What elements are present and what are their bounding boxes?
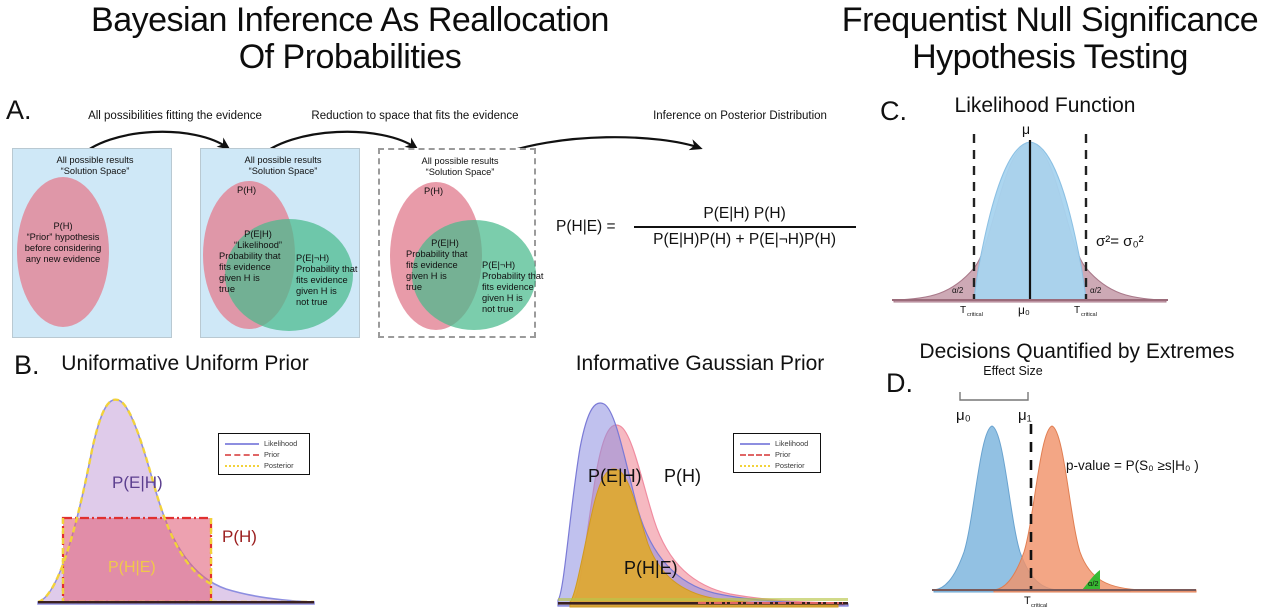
box2-nh-line3: fits evidence <box>296 275 362 286</box>
box3-header-line2: “Solution Space” <box>390 167 530 178</box>
venn-box-posterior: All possible results “Solution Space” P(… <box>378 148 536 338</box>
box1-prior-line3: before considering <box>15 243 111 254</box>
box3-like-line3: fits evidence <box>406 260 484 271</box>
svg-text:μ: μ <box>1022 121 1030 137</box>
panel-d-effect-size-label: Effect Size <box>958 364 1068 378</box>
panel-b-left-title: Uniformative Uniform Prior <box>50 352 320 376</box>
box2-like-line1: P(E|H) <box>219 229 297 240</box>
box2-like-line5: given H is <box>219 273 297 284</box>
right-main-title: Frequentist Null Significance Hypothesis… <box>820 2 1280 75</box>
svg-text:P(H|E): P(H|E) <box>108 559 156 576</box>
panel-b-right-legend: Likelihood Prior Posterior <box>733 433 821 473</box>
left-title-line1: Bayesian Inference As Reallocation <box>30 2 670 39</box>
legend-swatch-posterior-2 <box>740 465 770 467</box>
svg-text:T: T <box>1074 305 1080 316</box>
svg-text:α/2: α/2 <box>1090 286 1102 295</box>
legend-item-likelihood: Likelihood <box>225 438 303 449</box>
formula-lhs: P(H|E) = <box>556 218 616 236</box>
svg-text:μ₀: μ₀ <box>956 407 971 424</box>
svg-text:P(H): P(H) <box>664 466 701 486</box>
box3-header-line1: All possible results <box>390 156 530 167</box>
box3-likelihood-text: P(E|H) Probability that fits evidence gi… <box>406 238 484 293</box>
svg-text:μ₁: μ₁ <box>1018 407 1032 424</box>
box1-prior-text: P(H) “Prior” hypothesis before consideri… <box>15 221 111 265</box>
svg-text:critical: critical <box>1031 603 1047 609</box>
panel-b-right-title: Informative Gaussian Prior <box>560 352 840 376</box>
panel-c-title: Likelihood Function <box>930 94 1160 118</box>
svg-text:critical: critical <box>967 312 983 318</box>
formula-numerator: P(E|H) P(H) <box>634 205 856 223</box>
legend-label-prior-2: Prior <box>775 450 791 459</box>
box2-like-line3: Probability that <box>219 251 297 262</box>
box2-header: All possible results “Solution Space” <box>213 155 353 177</box>
venn-box-prior: All possible results “Solution Space” P(… <box>12 148 172 338</box>
box2-like-line4: fits evidence <box>219 262 297 273</box>
box3-like-line5: true <box>406 282 484 293</box>
box3-ph-label: P(H) <box>424 186 443 197</box>
box2-header-line1: All possible results <box>213 155 353 166</box>
box2-ph-label: P(H) <box>237 185 256 196</box>
box2-nh-line2: Probability that <box>296 264 362 275</box>
box3-nh-line1: P(E|¬H) <box>482 260 548 271</box>
box1-prior-line2: “Prior” hypothesis <box>15 232 111 243</box>
legend-swatch-posterior <box>225 465 259 467</box>
box3-like-line4: given H is <box>406 271 484 282</box>
box2-header-line2: “Solution Space” <box>213 166 353 177</box>
svg-text:P(H): P(H) <box>222 527 257 546</box>
svg-text:P(H|E): P(H|E) <box>624 558 678 578</box>
venn-box-likelihood: All possible results “Solution Space” P(… <box>200 148 360 338</box>
legend-item-prior: Prior <box>225 449 303 460</box>
right-title-line1: Frequentist Null Significance <box>820 2 1280 39</box>
box3-like-line1: P(E|H) <box>406 238 484 249</box>
bayes-formula: P(H|E) = P(E|H) P(H) P(E|H)P(H) + P(E|¬H… <box>556 205 856 249</box>
box3-nh-line5: not true <box>482 304 548 315</box>
svg-text:P(E|H): P(E|H) <box>588 466 642 486</box>
legend-swatch-likelihood-2 <box>740 443 770 445</box>
panel-label-d: D. <box>886 368 913 399</box>
box1-header-line2: “Solution Space” <box>25 166 165 177</box>
legend-item-prior-2: Prior <box>740 449 814 460</box>
box1-prior-line4: any new evidence <box>15 254 111 265</box>
box3-nh-line2: Probability that <box>482 271 548 282</box>
panel-label-b: B. <box>14 350 40 381</box>
box1-header-line1: All possible results <box>25 155 165 166</box>
box2-nh-line1: P(E|¬H) <box>296 253 362 264</box>
legend-label-posterior: Posterior <box>264 461 294 470</box>
box3-header: All possible results “Solution Space” <box>390 156 530 178</box>
legend-swatch-likelihood <box>225 443 259 445</box>
legend-item-posterior: Posterior <box>225 460 303 471</box>
legend-label-prior: Prior <box>264 450 280 459</box>
svg-text:σ²= σ₀²: σ²= σ₀² <box>1096 233 1144 250</box>
panel-b-right-chart: P(E|H) P(H) P(H|E) <box>548 386 868 610</box>
left-main-title: Bayesian Inference As Reallocation Of Pr… <box>30 2 670 75</box>
panel-d-chart: μ₀ μ₁ α/2 T critical p-value = P(S₀ ≥s|H… <box>930 378 1280 612</box>
legend-swatch-prior-2 <box>740 454 770 456</box>
svg-text:μ₀: μ₀ <box>1018 303 1030 317</box>
box3-nothyp-text: P(E|¬H) Probability that fits evidence g… <box>482 260 548 315</box>
box3-nh-line3: fits evidence <box>482 282 548 293</box>
box3-like-line2: Probability that <box>406 249 484 260</box>
legend-item-likelihood-2: Likelihood <box>740 438 814 449</box>
box2-like-line2: “Likelihood” <box>219 240 297 251</box>
svg-text:P(E|H): P(E|H) <box>112 473 163 492</box>
box1-header: All possible results “Solution Space” <box>25 155 165 177</box>
right-title-line2: Hypothesis Testing <box>820 39 1280 76</box>
box1-prior-line1: P(H) <box>15 221 111 232</box>
box2-like-line6: true <box>219 284 297 295</box>
legend-item-posterior-2: Posterior <box>740 460 814 471</box>
svg-text:T: T <box>960 305 966 316</box>
box2-nh-line5: not true <box>296 297 362 308</box>
left-title-line2: Of Probabilities <box>30 39 670 76</box>
formula-denominator: P(E|H)P(H) + P(E|¬H)P(H) <box>634 231 856 249</box>
svg-text:α/2: α/2 <box>1088 579 1099 588</box>
svg-text:T: T <box>1024 595 1031 607</box>
fraction-bar <box>634 226 856 228</box>
panel-b-left-legend: Likelihood Prior Posterior <box>218 433 310 475</box>
legend-label-posterior-2: Posterior <box>775 461 805 470</box>
panel-d-title: Decisions Quantified by Extremes <box>872 340 1280 364</box>
box2-nh-line4: given H is <box>296 286 362 297</box>
box2-likelihood-text: P(E|H) “Likelihood” Probability that fit… <box>219 229 297 295</box>
legend-label-likelihood-2: Likelihood <box>775 439 808 448</box>
panel-c-chart: μ α/2 α/2 σ²= σ₀² T critical μ₀ T critic… <box>890 118 1170 318</box>
svg-text:critical: critical <box>1081 312 1097 318</box>
panel-b-left-chart: P(E|H) P(H) P(H|E) <box>30 392 320 610</box>
box3-nh-line4: given H is <box>482 293 548 304</box>
svg-text:p-value = P(S₀ ≥s|H₀ ): p-value = P(S₀ ≥s|H₀ ) <box>1066 458 1199 473</box>
svg-text:α/2: α/2 <box>952 286 964 295</box>
legend-label-likelihood: Likelihood <box>264 439 297 448</box>
box2-nothyp-text: P(E|¬H) Probability that fits evidence g… <box>296 253 362 308</box>
legend-swatch-prior <box>225 454 259 456</box>
